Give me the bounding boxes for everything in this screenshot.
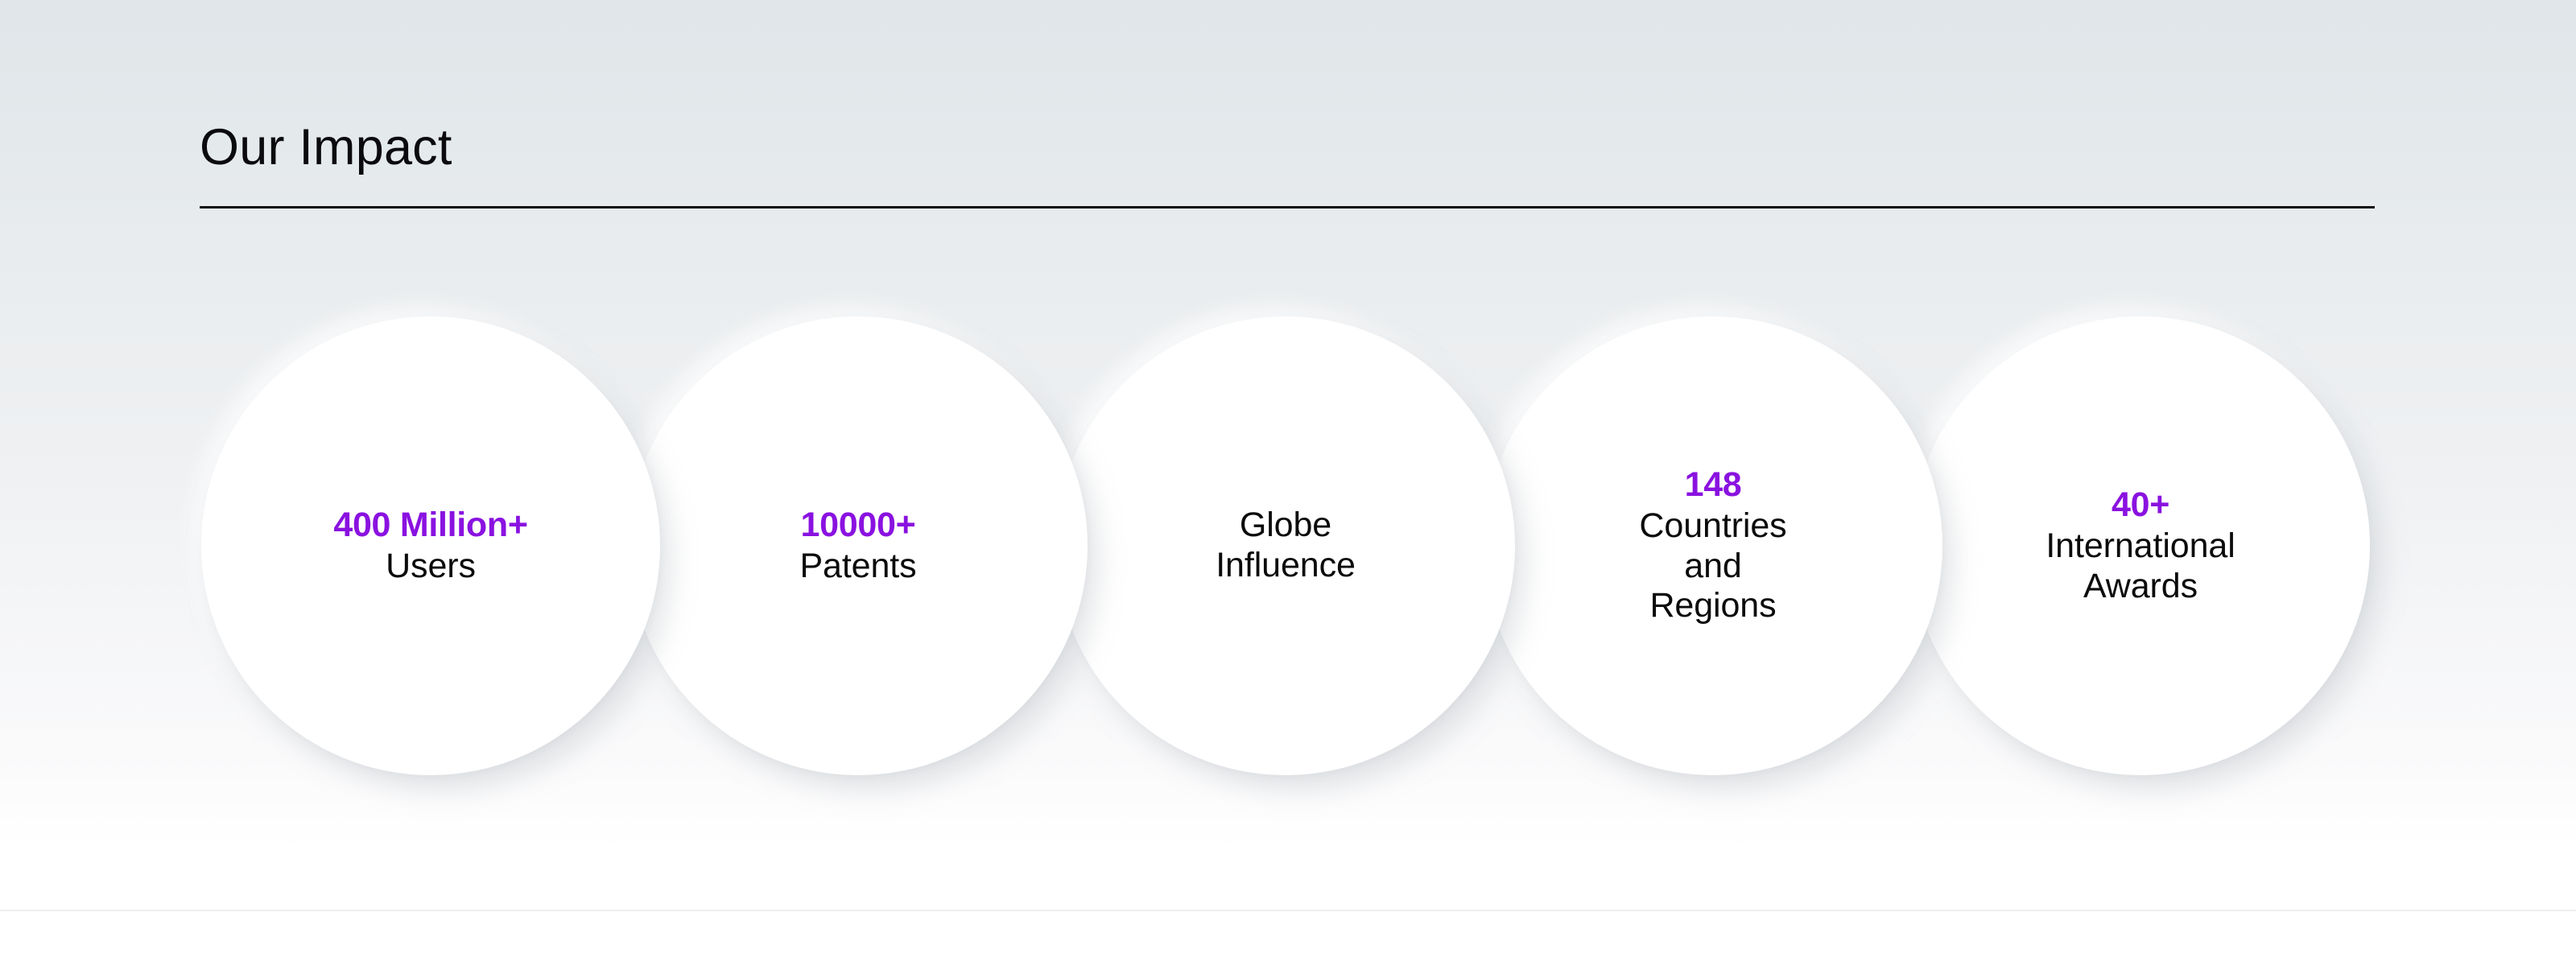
stat-label: Users — [251, 547, 610, 587]
stat-label: Countries and Regions — [1534, 506, 1893, 627]
stat-circle-globe-influence[interactable]: Globe Influence — [1056, 316, 1515, 775]
stat-circle-users[interactable]: 400 Million+ Users — [201, 316, 660, 775]
stat-label: Globe Influence — [1106, 506, 1465, 586]
stat-content: 148 Countries and Regions — [1534, 465, 1893, 627]
stat-value: 400 Million+ — [251, 506, 610, 545]
stat-content: Globe Influence — [1106, 506, 1465, 586]
stat-circle-patents[interactable]: 10000+ Patents — [629, 316, 1088, 775]
stat-circle-countries-and-regions[interactable]: 148 Countries and Regions — [1484, 316, 1942, 775]
footer-divider — [0, 910, 2576, 911]
stat-circle-international-awards[interactable]: 40+ International Awards — [1911, 316, 2370, 775]
stat-content: 40+ International Awards — [1961, 485, 2320, 607]
stat-label: Patents — [679, 547, 1038, 587]
stat-content: 400 Million+ Users — [251, 506, 610, 587]
our-impact-section: Our Impact 400 Million+ Users 10000+ Pat… — [0, 0, 2576, 966]
stat-content: 10000+ Patents — [679, 506, 1038, 587]
stat-value: 10000+ — [679, 506, 1038, 545]
stat-label: International Awards — [1961, 526, 2320, 607]
stats-circle-row: 400 Million+ Users 10000+ Patents Globe … — [201, 316, 2384, 777]
section-header: Our Impact — [200, 121, 2375, 208]
page-title: Our Impact — [200, 121, 2375, 174]
stat-value: 40+ — [1961, 485, 2320, 525]
stat-value: 148 — [1534, 465, 1893, 505]
title-divider — [200, 206, 2375, 208]
